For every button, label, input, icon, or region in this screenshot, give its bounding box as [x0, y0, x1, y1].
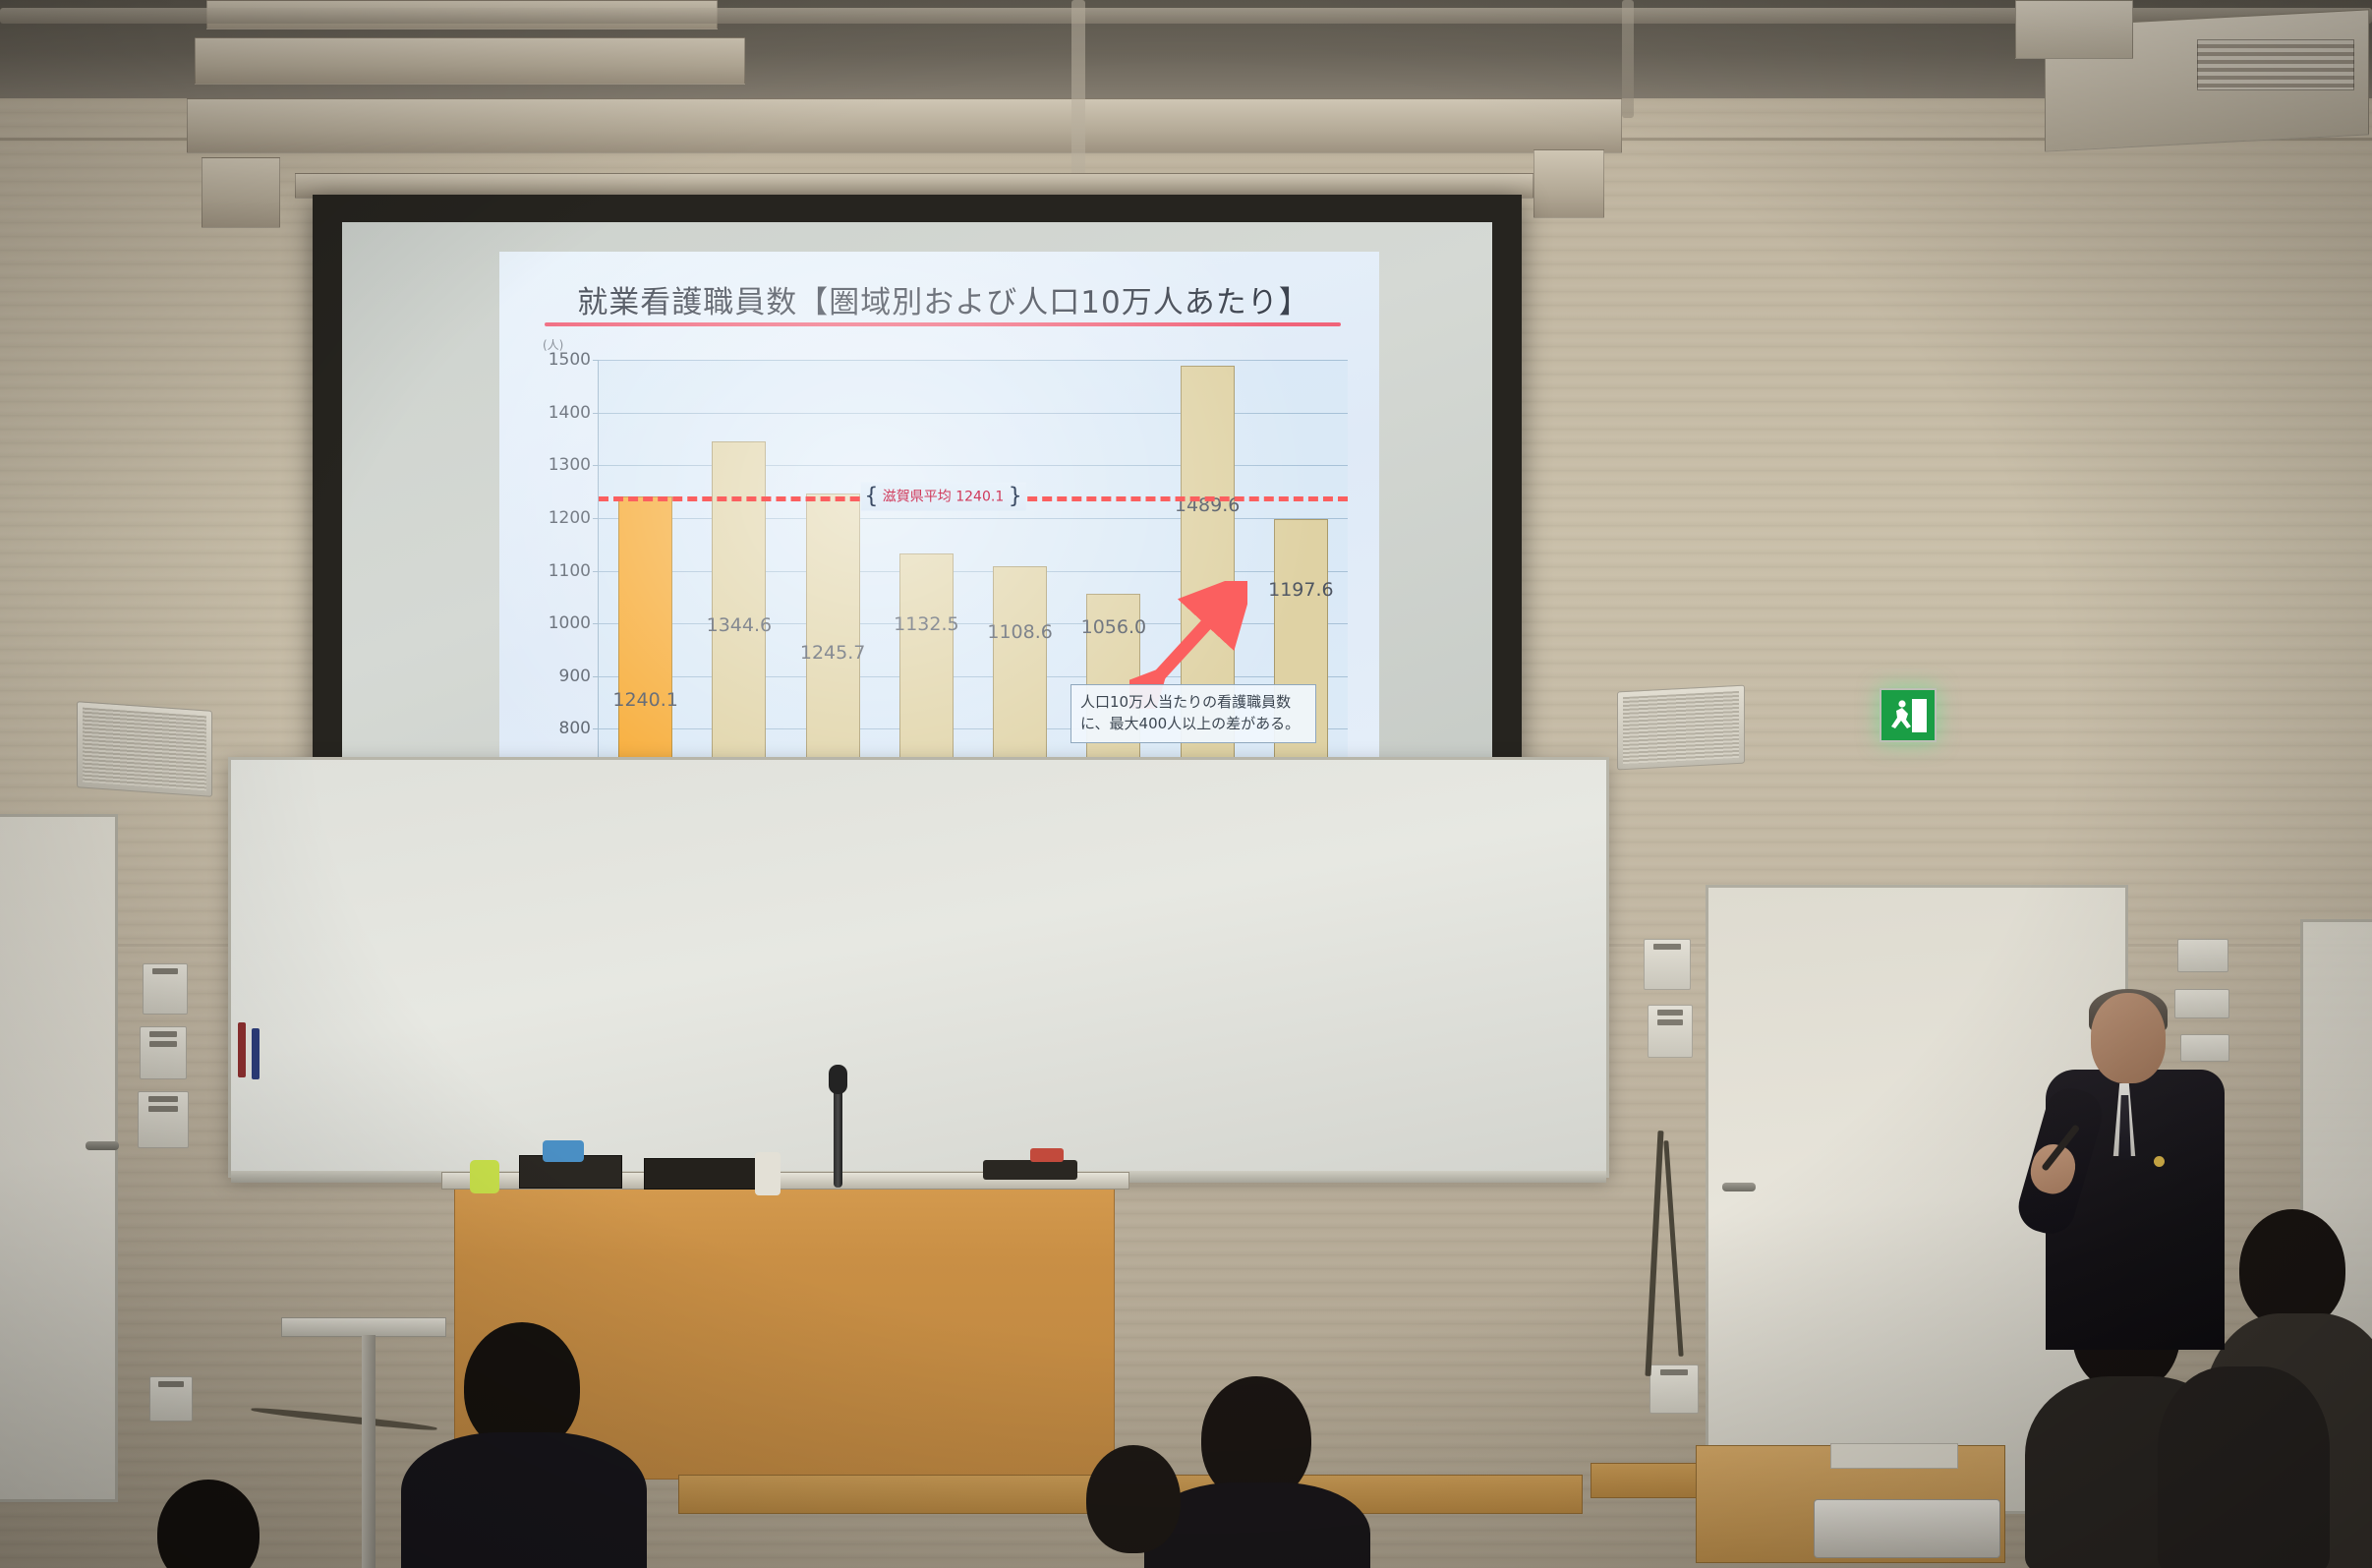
bar-slot: 1344.6大津 — [692, 360, 785, 782]
audience-member — [1086, 1445, 1214, 1568]
light-switch-plate[interactable] — [140, 1026, 187, 1079]
whiteboard-marker[interactable] — [252, 1028, 260, 1079]
whiteboard-marker[interactable] — [238, 1022, 246, 1077]
wall-speaker — [1617, 685, 1745, 771]
bar: 1132.5 — [899, 553, 954, 782]
y-axis-tick-label: 1100 — [549, 561, 591, 581]
printer[interactable] — [1814, 1499, 2000, 1558]
light-switch-plate[interactable] — [143, 963, 188, 1015]
ceiling-beam — [187, 98, 1622, 153]
presenter-head — [2091, 993, 2166, 1083]
emergency-exit-icon — [1880, 688, 1937, 742]
average-reference-label: { 滋賀県平均 1240.1 } — [860, 483, 1025, 511]
bar: 1108.6 — [993, 566, 1047, 782]
bar-slot: 1245.7湖南 — [786, 360, 880, 782]
wall-speaker — [77, 701, 212, 797]
ceiling-beam — [195, 37, 745, 85]
outlet-plate[interactable] — [149, 1376, 193, 1422]
lapel-pin — [2154, 1156, 2165, 1167]
bar: 1245.7 — [806, 494, 860, 782]
chart-plot-area: 150014001300120011001000900800700 1240.1… — [598, 360, 1348, 783]
equipment-stand-pole — [362, 1335, 376, 1568]
head — [1086, 1445, 1181, 1553]
title-underline — [545, 322, 1341, 326]
brace-open: { — [864, 485, 878, 509]
paper-stack — [1830, 1443, 1958, 1469]
y-axis-tick-label: 800 — [559, 719, 591, 738]
y-axis-tick-label: 1400 — [549, 403, 591, 423]
microphone-head[interactable] — [829, 1065, 847, 1094]
brace-close: } — [1009, 485, 1022, 509]
y-axis-tick-label: 1300 — [549, 455, 591, 475]
desk-item-red[interactable] — [1030, 1148, 1064, 1162]
laptop-secondary[interactable] — [644, 1158, 757, 1190]
door-left[interactable] — [0, 814, 118, 1502]
wall-panel — [2177, 939, 2228, 972]
torso — [401, 1432, 647, 1568]
bar-value-label: 1132.5 — [894, 613, 958, 635]
bar: 1240.1 — [618, 496, 672, 782]
lecture-hall-room: ♥ AED 就業看護職員数【圏域別および人口10万人あたり】 (人) — [0, 0, 2372, 1568]
bar-value-label: 1197.6 — [1268, 579, 1333, 601]
average-value-text: 滋賀県平均 1240.1 — [883, 490, 1004, 505]
torso — [2158, 1366, 2330, 1568]
callout-text: 人口10万人当たりの看護職員数に、最大400人以上の差がある。 — [1080, 693, 1300, 732]
light-switch-plate[interactable] — [1644, 939, 1691, 990]
bar-value-label: 1344.6 — [707, 614, 772, 636]
desk-item-white[interactable] — [755, 1152, 781, 1195]
ceiling-pipe — [1622, 0, 1634, 118]
air-vent — [2197, 39, 2354, 90]
y-axis-tick-label: 1200 — [549, 508, 591, 528]
bar-slot: 1132.5甲賀 — [880, 360, 973, 782]
desk-item-green[interactable] — [470, 1160, 499, 1193]
presenter-hand — [2025, 1139, 2080, 1198]
audience-member — [2158, 1366, 2325, 1568]
ceiling-bracket — [202, 157, 280, 228]
outlet-plate[interactable] — [1649, 1365, 1699, 1414]
bar-slot: 1240.1滋賀県 — [599, 360, 692, 782]
audience-member — [393, 1322, 639, 1568]
light-switch-plate[interactable] — [1648, 1005, 1693, 1058]
chart-callout-box: 人口10万人当たりの看護職員数に、最大400人以上の差がある。 — [1070, 684, 1316, 743]
whiteboard — [228, 757, 1609, 1178]
desk-item-blue[interactable] — [543, 1140, 584, 1162]
bar-value-label: 1245.7 — [800, 642, 865, 664]
bar: 1344.6 — [712, 441, 766, 782]
bar-value-label: 1240.1 — [612, 689, 677, 711]
audience-member — [118, 1480, 315, 1568]
door-handle[interactable] — [86, 1141, 119, 1150]
ceiling-bracket — [1533, 149, 1604, 218]
ceiling-duct — [2015, 0, 2133, 59]
presenter — [2020, 993, 2236, 1347]
bar-value-label: 1108.6 — [987, 621, 1052, 643]
desk-item-dark[interactable] — [983, 1160, 1077, 1180]
head — [2239, 1209, 2345, 1329]
door-handle[interactable] — [1722, 1183, 1756, 1191]
y-axis-tick-label: 900 — [559, 667, 591, 686]
bar-slot: 1108.6東近江 — [973, 360, 1067, 782]
y-axis-tick-label: 1500 — [549, 350, 591, 370]
head — [157, 1480, 260, 1568]
light-switch-plate[interactable] — [138, 1091, 189, 1148]
y-axis-tick-label: 1000 — [549, 613, 591, 633]
slide-title: 就業看護職員数【圏域別および人口10万人あたり】 — [550, 277, 1337, 321]
